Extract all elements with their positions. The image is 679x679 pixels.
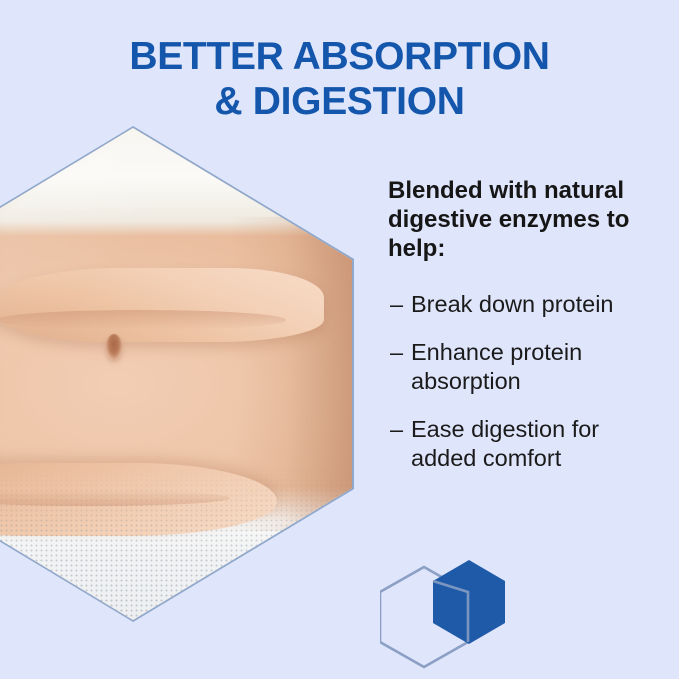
benefits-list: – Break down protein – Enhance protein a… xyxy=(390,290,660,492)
hexagon-photo-border xyxy=(0,126,354,622)
intro-text: Blended with natural digestive enzymes t… xyxy=(388,176,656,263)
bullet-dash-icon: – xyxy=(390,415,411,473)
list-item-label: Ease digestion for added comfort xyxy=(411,415,660,473)
page-title-line-1: BETTER ABSORPTION xyxy=(129,35,549,78)
page-title: BETTER ABSORPTION & DIGESTION xyxy=(0,34,679,124)
hexagon-photo-clip xyxy=(0,128,352,620)
list-item-label: Break down protein xyxy=(411,290,660,319)
list-item: – Break down protein xyxy=(390,290,660,319)
hexagon-logo xyxy=(380,545,590,679)
list-item: – Ease digestion for added comfort xyxy=(390,415,660,473)
bullet-dash-icon: – xyxy=(390,338,411,396)
navel xyxy=(106,334,122,360)
bullet-dash-icon: – xyxy=(390,290,411,319)
promotional-graphic: BETTER ABSORPTION & DIGESTION Blended wi… xyxy=(0,0,679,679)
page-title-line-2: & DIGESTION xyxy=(0,79,679,124)
upper-hand-shadow xyxy=(0,310,286,330)
dotted-fabric-texture xyxy=(0,458,352,620)
upper-hand xyxy=(0,268,324,342)
list-item: – Enhance protein absorption xyxy=(390,338,660,396)
list-item-label: Enhance protein absorption xyxy=(411,338,660,396)
hexagon-photo-frame xyxy=(0,126,354,622)
